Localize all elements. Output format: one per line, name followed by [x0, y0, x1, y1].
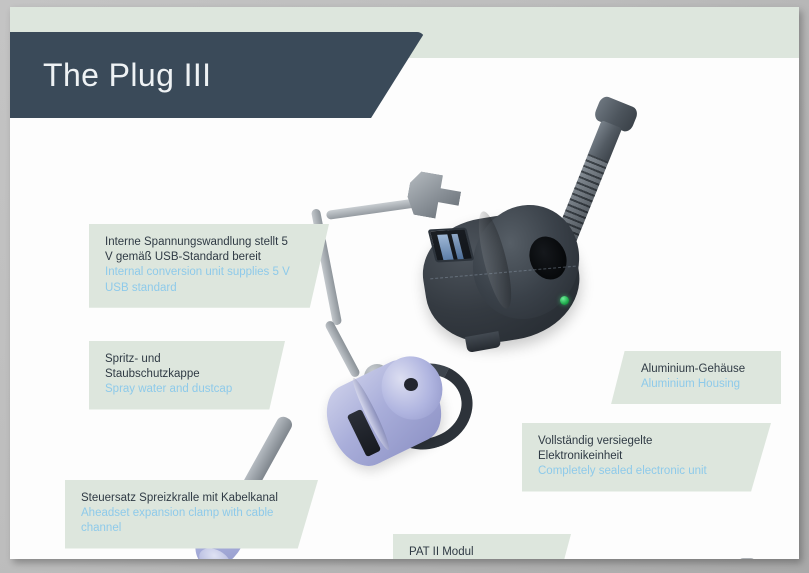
callout-conversion-en: Internal conversion unit supplies 5 V US… — [105, 265, 295, 295]
callout-conversion: Interne Spannungswandlung stellt 5 V gem… — [89, 224, 329, 308]
weight-icon-handle — [739, 558, 755, 559]
callout-dustcap-en: Spray water and dustcap — [105, 382, 251, 397]
aluminium-housing-part — [410, 188, 590, 358]
usb-tongue-left — [437, 234, 453, 260]
usb-tongue-right — [451, 234, 463, 260]
callout-pat-module: PAT II Modul PAT II module — [393, 534, 571, 559]
callout-conversion-de: Interne Spannungswandlung stellt 5 V gem… — [105, 235, 295, 265]
callout-aheadset-en: Aheadset expansion clamp with cable chan… — [81, 506, 284, 536]
product-exploded-view: Interne Spannungswandlung stellt 5 V gem… — [10, 58, 799, 559]
callout-aluminium-en: Aluminium Housing — [641, 377, 765, 392]
slide-frame: The Plug III — [0, 0, 809, 573]
callout-dustcap: Spritz- und Staubschutzkappe Spray water… — [89, 341, 285, 410]
callout-sealed-en: Completely sealed electronic unit — [538, 464, 737, 479]
callout-aluminium-de: Aluminium-Gehäuse — [641, 362, 765, 377]
callout-sealed-unit: Vollständig versiegelte Elektronikeinhei… — [522, 423, 771, 492]
status-led-icon — [560, 296, 569, 305]
usb-port — [428, 227, 475, 262]
weight-icon: 55g — [728, 558, 766, 559]
callout-pat-de: PAT II Modul — [409, 545, 537, 559]
callout-dustcap-de: Spritz- und Staubschutzkappe — [105, 352, 251, 382]
callout-sealed-de: Vollständig versiegelte Elektronikeinhei… — [538, 434, 737, 464]
callout-aheadset-de: Steuersatz Spreizkralle mit Kabelkanal — [81, 491, 284, 506]
callout-aluminium-housing: Aluminium-Gehäuse Aluminium Housing — [611, 351, 781, 404]
slide-canvas: The Plug III — [10, 7, 799, 559]
module-bore-hole — [404, 378, 418, 391]
callout-aheadset: Steuersatz Spreizkralle mit Kabelkanal A… — [65, 480, 318, 549]
